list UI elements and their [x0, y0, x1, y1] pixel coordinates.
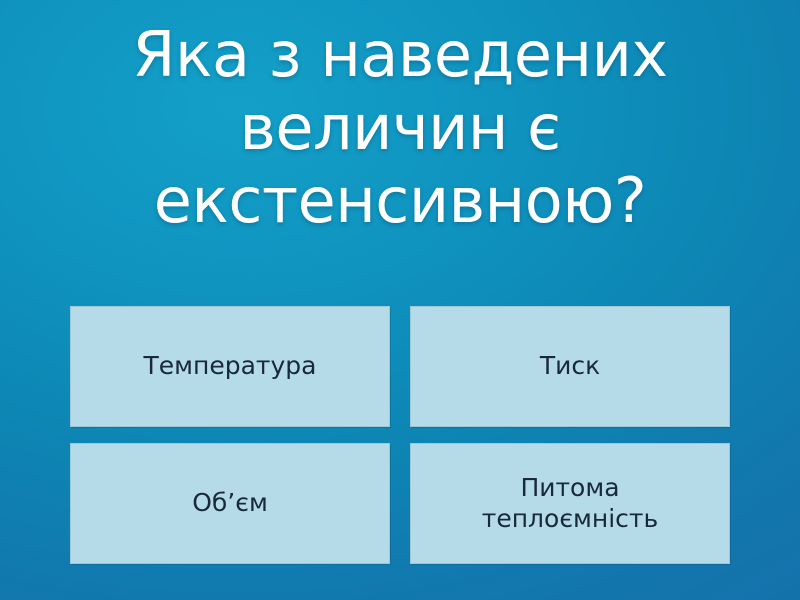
answer-option-2[interactable]: Тиск [410, 306, 730, 427]
question-text: Яка з наведених величин є екстенсивною? [50, 18, 750, 237]
answer-option-1[interactable]: Температура [70, 306, 390, 427]
answers-grid: Температура Тиск Об’єм Питома теплоємніс… [70, 306, 732, 564]
question-area: Яка з наведених величин є екстенсивною? [50, 18, 750, 237]
answer-option-4-label: Питома теплоємність [482, 473, 658, 534]
answer-option-3-label: Об’єм [192, 488, 268, 519]
answer-option-2-label: Тиск [540, 351, 600, 382]
answer-option-3[interactable]: Об’єм [70, 443, 390, 564]
answer-option-4[interactable]: Питома теплоємність [410, 443, 730, 564]
answer-option-1-label: Температура [144, 351, 317, 382]
quiz-slide: Яка з наведених величин є екстенсивною? … [0, 0, 800, 600]
